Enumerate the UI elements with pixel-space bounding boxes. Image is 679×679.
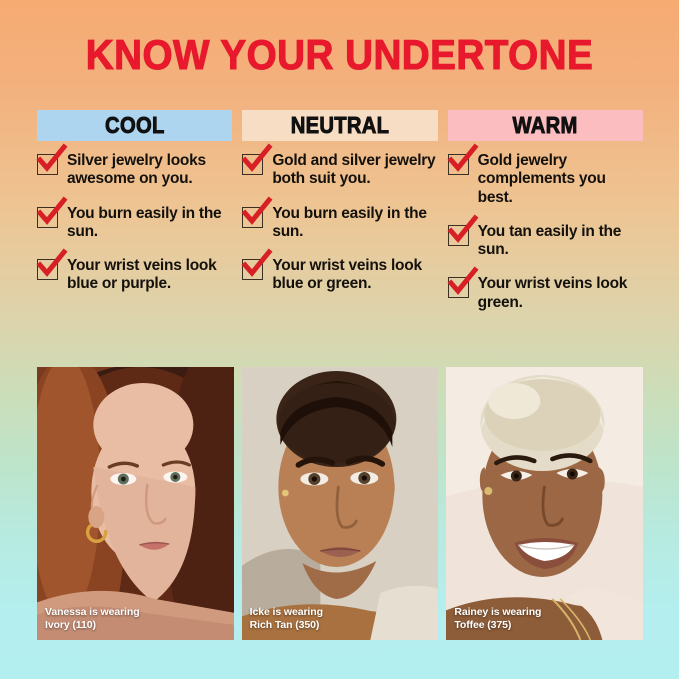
list-item-label: You tan easily in the sun.	[478, 223, 643, 260]
checkbox-checked-icon	[37, 154, 58, 175]
checkbox-checked-icon	[242, 207, 263, 228]
list-item: Gold and silver jewelry both suit you.	[242, 152, 437, 189]
list-item: You burn easily in the sun.	[37, 205, 232, 242]
model-photo-icke: Icke is wearing Rich Tan (350)	[242, 367, 439, 640]
photo-caption: Rainey is wearing Toffee (375)	[454, 606, 541, 632]
checklist-column-warm: Gold jewelry complements you best. You t…	[448, 152, 643, 352]
page-title: KNOW YOUR UNDERTONE	[27, 34, 652, 76]
list-item-label: Your wrist veins look blue or green.	[272, 257, 437, 294]
column-header-neutral: NEUTRAL	[242, 110, 437, 141]
column-header-cool-label: COOL	[105, 112, 165, 139]
checkbox-checked-icon	[37, 207, 58, 228]
checkbox-checked-icon	[448, 154, 469, 175]
column-header-cool: COOL	[37, 110, 232, 141]
model-portrait-image	[242, 367, 439, 640]
checkbox-checked-icon	[37, 259, 58, 280]
list-item: Your wrist veins look green.	[448, 275, 643, 312]
list-item-label: You burn easily in the sun.	[67, 205, 232, 242]
undertone-checklist-row: Silver jewelry looks awesome on you. You…	[37, 152, 643, 352]
list-item-label: Gold jewelry complements you best.	[478, 152, 643, 207]
photo-caption-line1: Vanessa is wearing	[45, 606, 140, 619]
column-header-neutral-label: NEUTRAL	[291, 112, 390, 139]
model-photo-rainey: Rainey is wearing Toffee (375)	[446, 367, 643, 640]
checklist-column-neutral: Gold and silver jewelry both suit you. Y…	[242, 152, 437, 352]
list-item-label: Your wrist veins look blue or purple.	[67, 257, 232, 294]
checkbox-checked-icon	[448, 225, 469, 246]
list-item: Gold jewelry complements you best.	[448, 152, 643, 207]
list-item: You tan easily in the sun.	[448, 223, 643, 260]
photo-caption-line1: Rainey is wearing	[454, 606, 541, 619]
list-item-label: You burn easily in the sun.	[272, 205, 437, 242]
column-header-warm-label: WARM	[513, 112, 578, 139]
photo-caption-line2: Rich Tan (350)	[250, 619, 323, 632]
list-item: Your wrist veins look blue or purple.	[37, 257, 232, 294]
model-photo-row: Vanessa is wearing Ivory (110)	[37, 367, 643, 640]
list-item: You burn easily in the sun.	[242, 205, 437, 242]
photo-caption-line1: Icke is wearing	[250, 606, 323, 619]
checkbox-checked-icon	[242, 259, 263, 280]
photo-caption: Vanessa is wearing Ivory (110)	[45, 606, 140, 632]
list-item-label: Gold and silver jewelry both suit you.	[272, 152, 437, 189]
list-item-label: Your wrist veins look green.	[478, 275, 643, 312]
photo-caption-line2: Toffee (375)	[454, 619, 541, 632]
list-item: Your wrist veins look blue or green.	[242, 257, 437, 294]
model-portrait-image	[37, 367, 234, 640]
photo-caption-line2: Ivory (110)	[45, 619, 140, 632]
checkbox-checked-icon	[448, 277, 469, 298]
column-header-warm: WARM	[448, 110, 643, 141]
undertone-header-row: COOL NEUTRAL WARM	[37, 110, 643, 141]
model-photo-vanessa: Vanessa is wearing Ivory (110)	[37, 367, 234, 640]
list-item-label: Silver jewelry looks awesome on you.	[67, 152, 232, 189]
infographic-page: KNOW YOUR UNDERTONE COOL NEUTRAL WARM Si…	[0, 0, 679, 679]
list-item: Silver jewelry looks awesome on you.	[37, 152, 232, 189]
model-portrait-image	[446, 367, 643, 640]
photo-caption: Icke is wearing Rich Tan (350)	[250, 606, 323, 632]
checkbox-checked-icon	[242, 154, 263, 175]
checklist-column-cool: Silver jewelry looks awesome on you. You…	[37, 152, 232, 352]
